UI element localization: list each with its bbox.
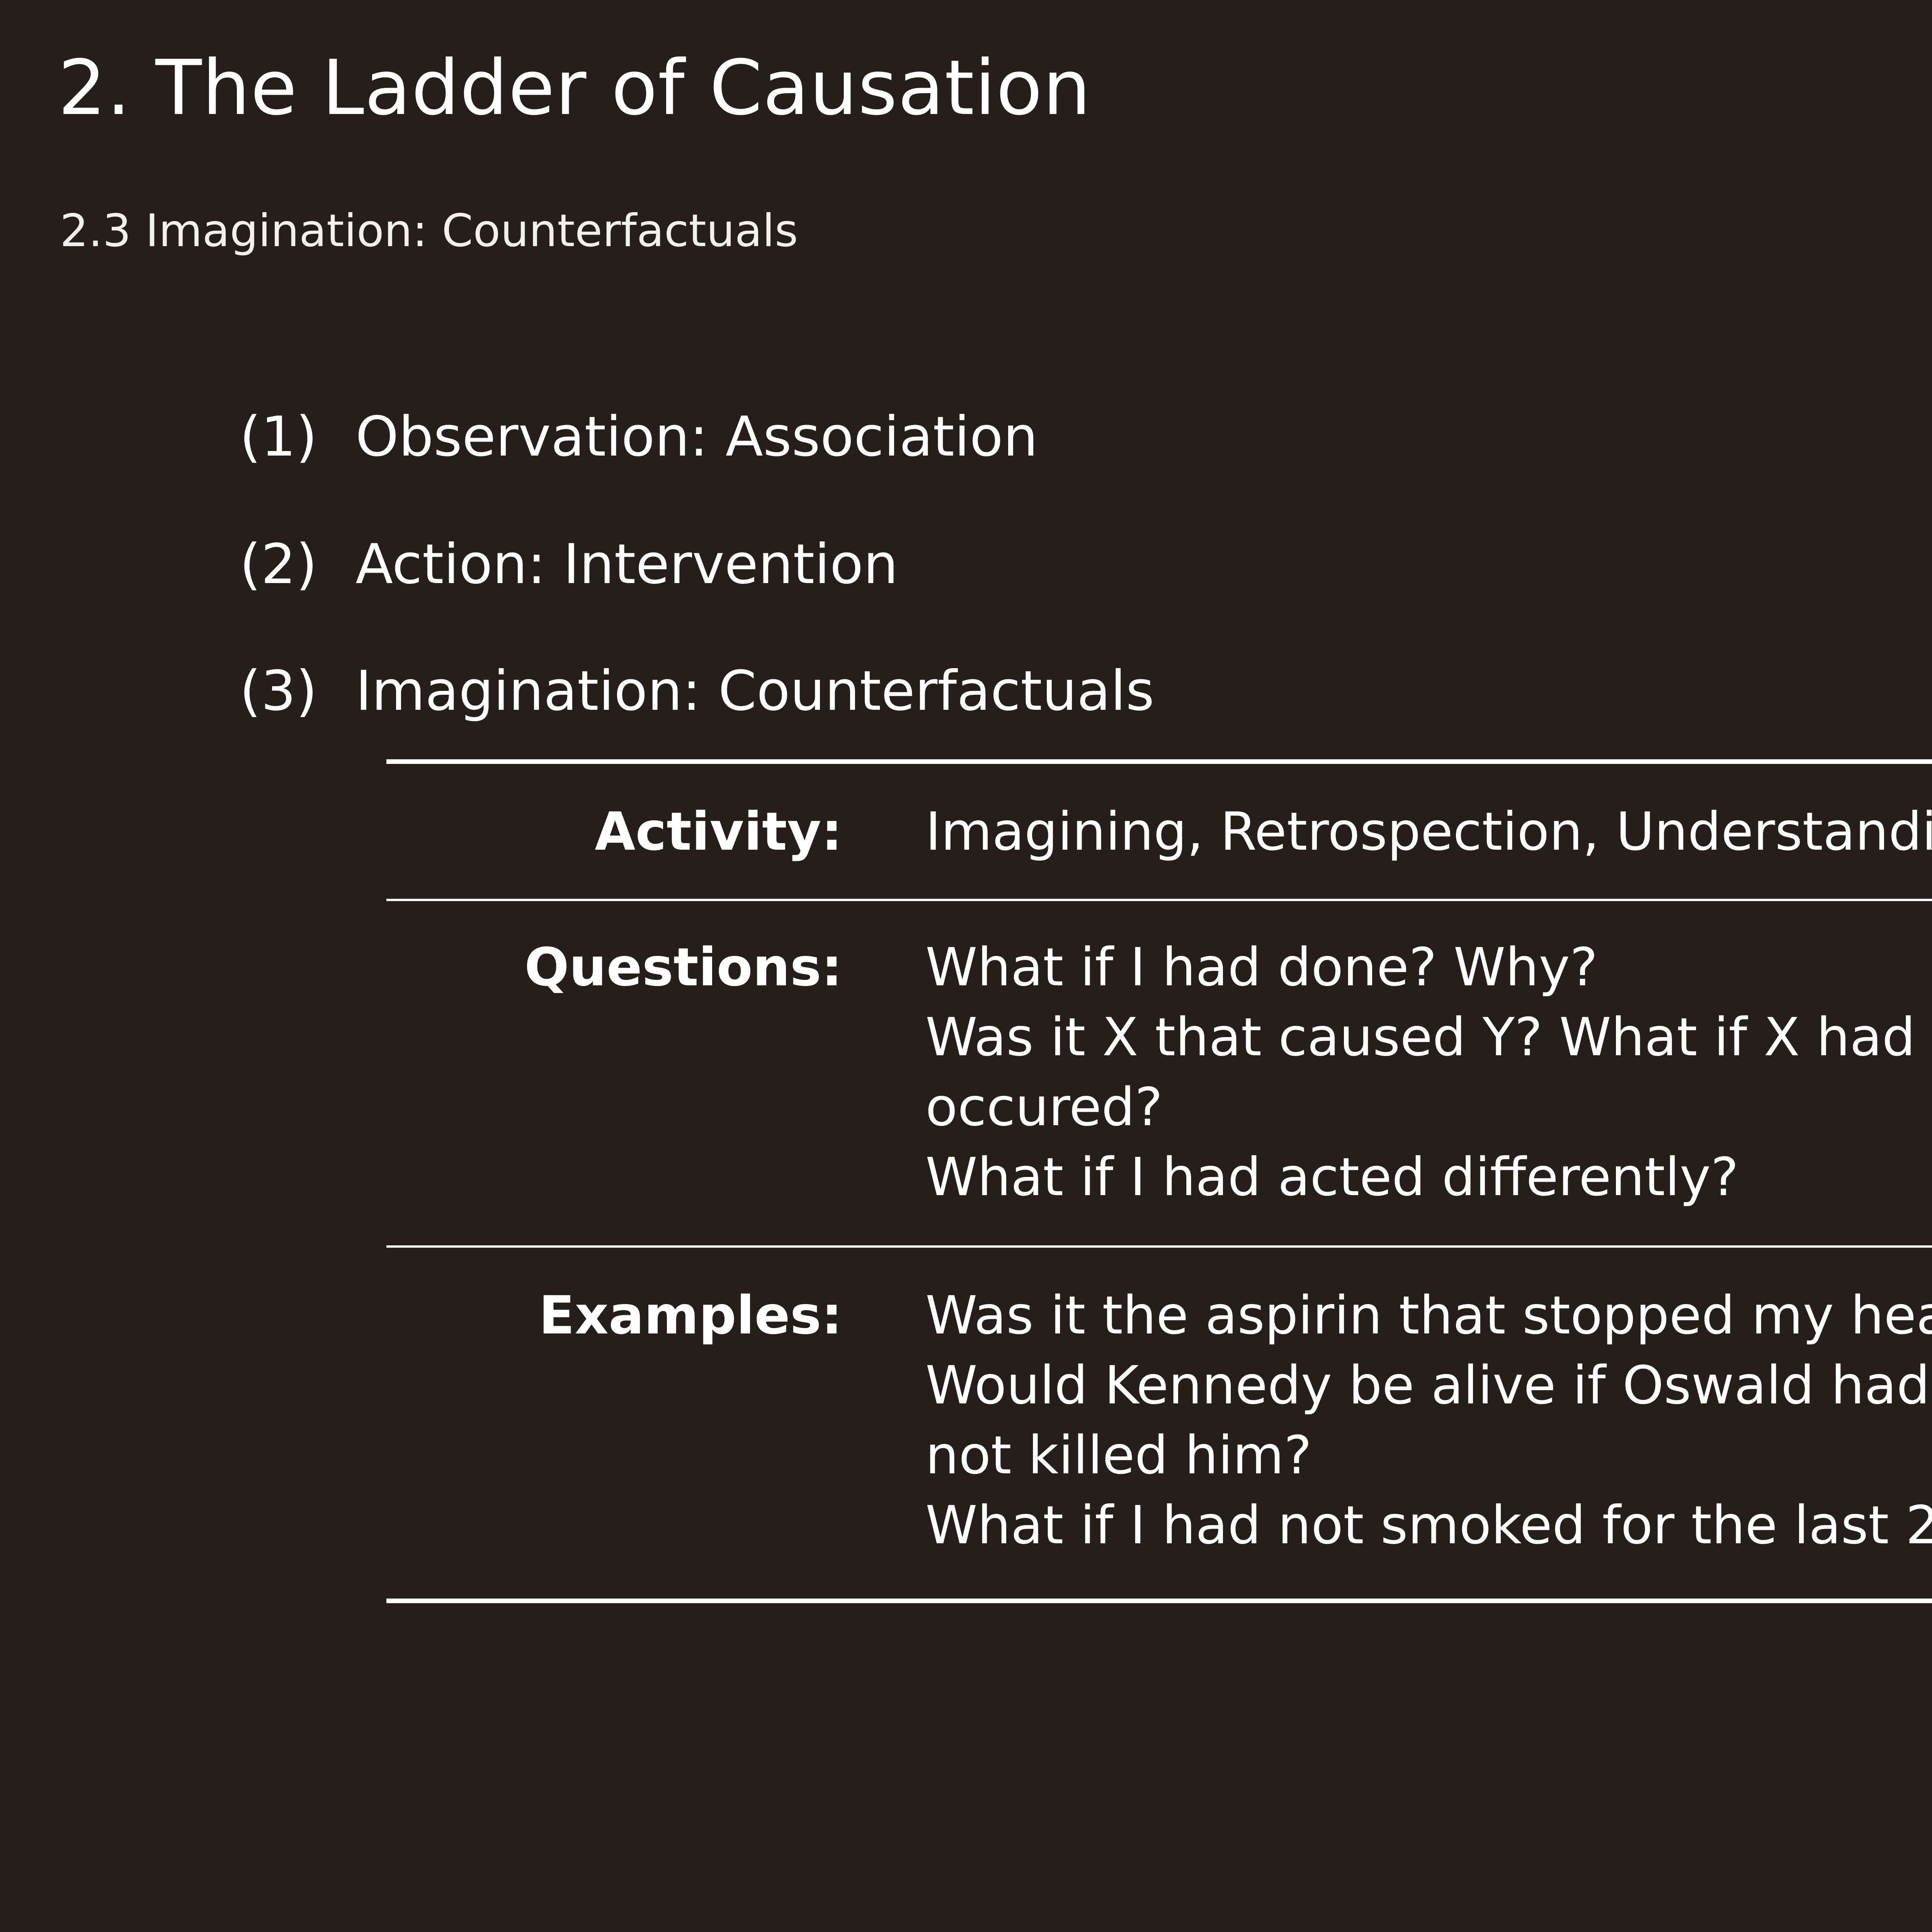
page-subtitle: 2.3 Imagination: Counterfactuals [60,209,798,253]
row-line: not killed him? [925,1421,1932,1491]
row-line: What if I had not smoked for the last 2 … [925,1491,1932,1561]
table-row-examples: Examples: Was it the aspirin that stoppe… [386,1248,1932,1599]
list-item-label: Action: Intervention [355,532,898,596]
list-item-label: Imagination: Counterfactuals [355,659,1154,723]
row-label: Examples: [386,1281,842,1351]
beamer-slide: 2. The Ladder of Causation 2.3 Imaginati… [0,0,1932,1932]
row-line: What if I had done? Why? [925,933,1932,1003]
list-item-number: (2) [240,537,355,592]
list-item: (3)Imagination: Counterfactuals [240,664,1154,719]
row-label: Questions: [386,933,842,1003]
list-item: (2)Action: Intervention [240,537,898,592]
row-line: What if I had acted differently? [925,1143,1932,1213]
table-top-rule [386,759,1932,764]
list-item-label: Observation: Association [355,405,1038,469]
list-item: (1)Observation: Association [240,410,1038,464]
list-item-number: (3) [240,664,355,719]
row-line: Imagining, Retrospection, Understanding [925,797,1932,867]
row-content: Was it the aspirin that stopped my heada… [842,1281,1932,1561]
row-line: Would Kennedy be alive if Oswald had [925,1351,1932,1421]
row-content: Imagining, Retrospection, Understanding [842,797,1932,867]
row-line: Was it the aspirin that stopped my heada… [925,1281,1932,1351]
page-title: 2. The Ladder of Causation [58,50,1091,126]
row-content: What if I had done? Why? Was it X that c… [842,933,1932,1213]
list-item-number: (1) [240,410,355,464]
row-label: Activity: [386,797,842,867]
table-bottom-rule [386,1599,1932,1603]
row-line: occured? [925,1073,1932,1143]
row-line: Was it X that caused Y? What if X had no… [925,1003,1932,1073]
ladder-table: Activity: Imagining, Retrospection, Unde… [386,759,1932,1603]
table-row-questions: Questions: What if I had done? Why? Was … [386,901,1932,1246]
table-row-activity: Activity: Imagining, Retrospection, Unde… [386,764,1932,899]
